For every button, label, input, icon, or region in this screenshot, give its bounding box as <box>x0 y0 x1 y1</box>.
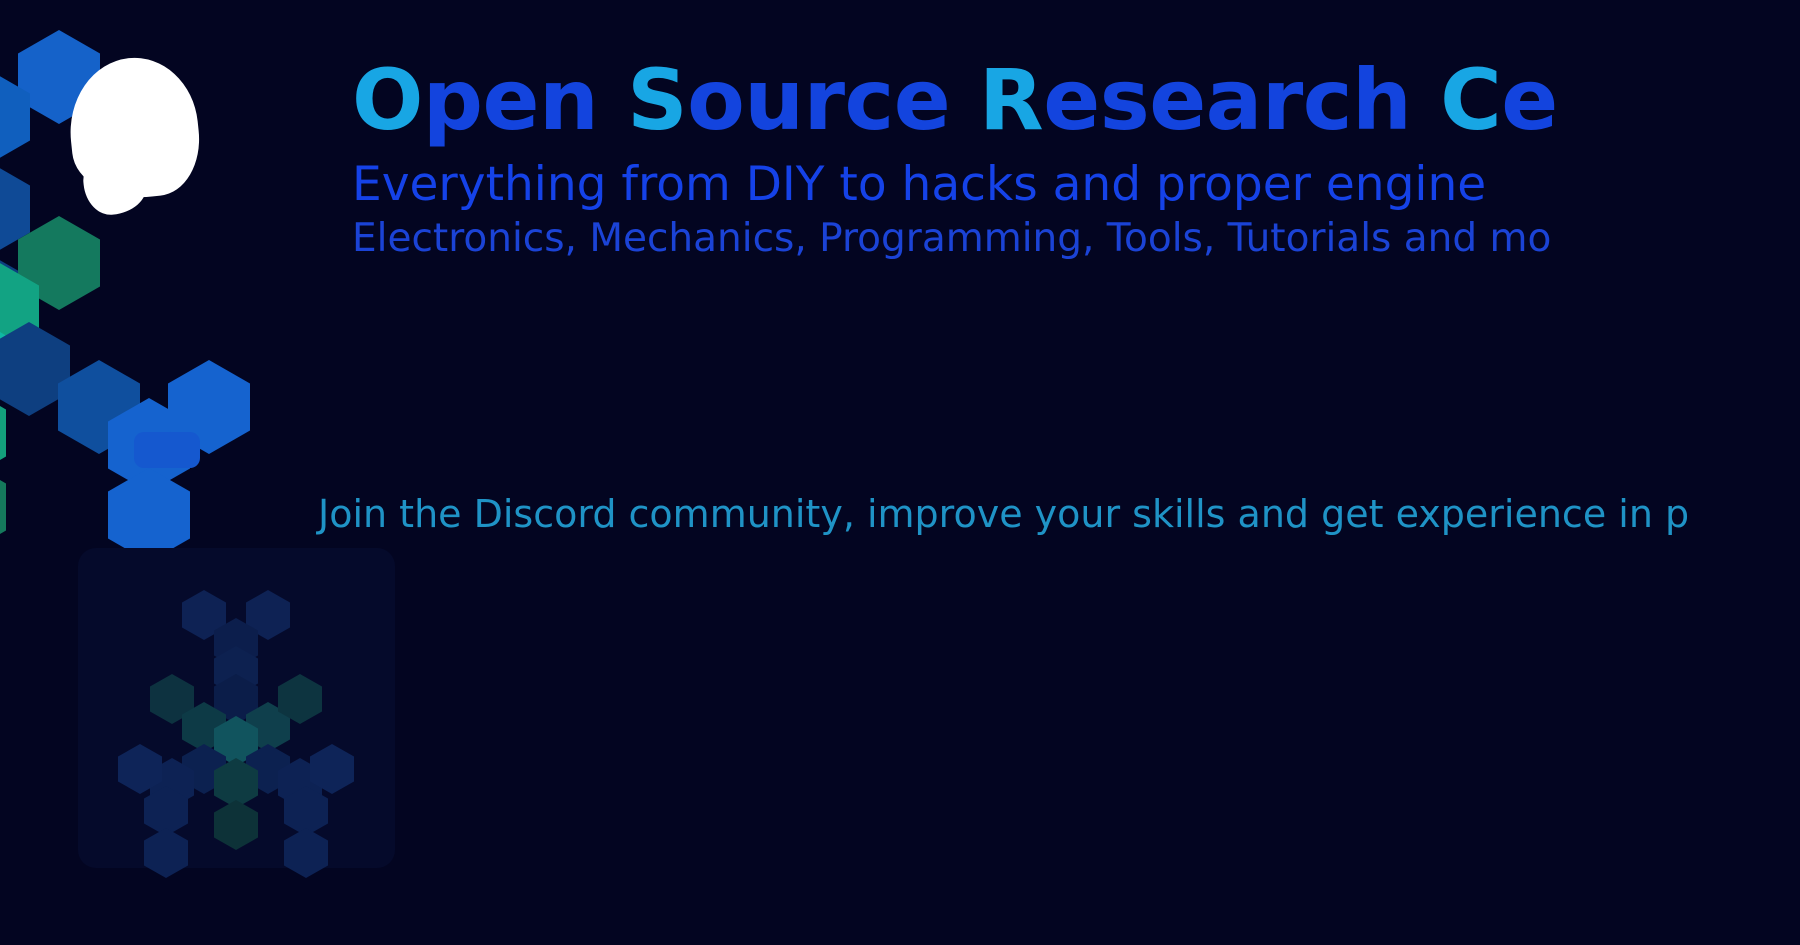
card-hexagon <box>144 828 188 878</box>
hero-text-block: Open Source Research Ce Everything from … <box>352 58 1800 260</box>
page-root: Open Source Research Ce Everything from … <box>0 0 1800 945</box>
title-accent-letter: O <box>352 51 423 149</box>
title-letters: esearch <box>1043 51 1440 149</box>
title-letters: ource <box>687 51 979 149</box>
page-title: Open Source Research Ce <box>352 58 1800 142</box>
hero-subtitle: Everything from DIY to hacks and proper … <box>352 160 1800 209</box>
discord-cta-text: Join the Discord community, improve your… <box>318 492 1689 536</box>
title-accent-letter: C <box>1440 51 1501 149</box>
hexagon-logo-mark <box>0 30 280 550</box>
card-hexagon <box>284 828 328 878</box>
blue-pill-decoration <box>134 432 200 468</box>
logo-hexagon <box>0 460 6 554</box>
title-letters: pen <box>423 51 627 149</box>
title-accent-letter: R <box>979 51 1043 149</box>
title-letters: e <box>1501 51 1557 149</box>
hexagon-pattern-card[interactable] <box>78 548 395 868</box>
hexagon-snowflake-pattern <box>78 548 395 868</box>
title-accent-letter: S <box>627 51 687 149</box>
hero-subtitle-secondary: Electronics, Mechanics, Programming, Too… <box>352 219 1800 260</box>
card-hexagon <box>214 800 258 850</box>
